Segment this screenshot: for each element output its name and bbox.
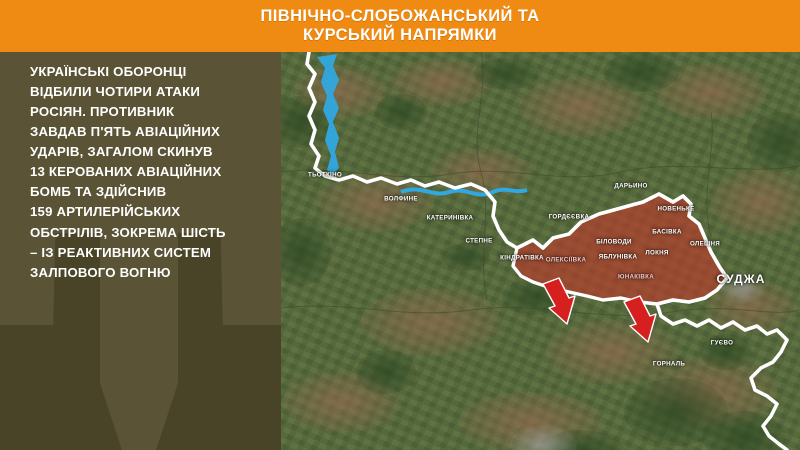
page-title: ПІВНІЧНО-СЛОБОЖАНСЬКИЙ ТА КУРСЬКИЙ НАПРЯ…: [261, 7, 540, 46]
map-area[interactable]: ТЬОТКІНОВОЛФИНЕКАТЕРИНІВКАСТЕПНЕКІНДРАТІ…: [281, 52, 800, 450]
summary-text: УКРАЇНСЬКІ ОБОРОНЦІ ВІДБИЛИ ЧОТИРИ АТАКИ…: [30, 62, 278, 283]
infographic-root: ПІВНІЧНО-СЛОБОЖАНСЬКИЙ ТА КУРСЬКИЙ НАПРЯ…: [0, 0, 800, 450]
map-vector-overlay: [281, 52, 800, 450]
river-seym: [317, 54, 527, 195]
header-bar: ПІВНІЧНО-СЛОБОЖАНСЬКИЙ ТА КУРСЬКИЙ НАПРЯ…: [0, 0, 800, 52]
summary-panel: УКРАЇНСЬКІ ОБОРОНЦІ ВІДБИЛИ ЧОТИРИ АТАКИ…: [0, 52, 281, 450]
